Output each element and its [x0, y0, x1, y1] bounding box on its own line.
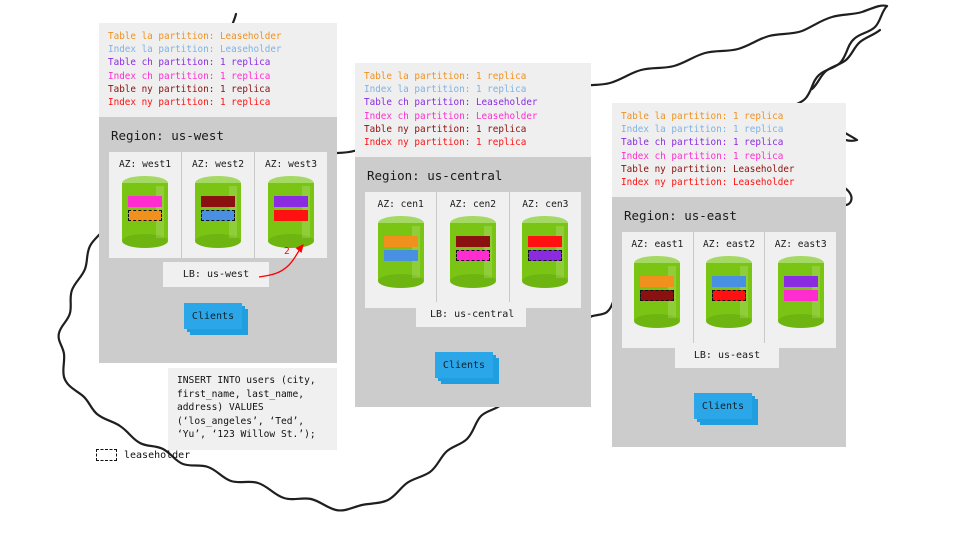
partition-line: Table la partition: Leaseholder — [108, 30, 328, 43]
az-cell-west3[interactable]: AZ: west3 — [255, 152, 327, 258]
replica-stripe-leaseholder — [128, 210, 162, 221]
az-label: AZ: east1 — [622, 239, 693, 250]
node-cylinder-west3[interactable] — [268, 176, 314, 248]
region-panel-us-central: Region: us-central AZ: cen1 AZ: cen2 — [355, 157, 591, 407]
replica-stripe — [384, 236, 418, 247]
node-cylinder-east3[interactable] — [778, 256, 824, 328]
region-cluster-us-east: Table la partition: 1 replica Index la p… — [612, 103, 846, 447]
clients-stack-us-central[interactable]: Clients — [435, 352, 497, 382]
partition-line: Index la partition: 1 replica — [364, 83, 582, 96]
region-title: Region: us-central — [355, 157, 591, 183]
replica-stripe — [274, 210, 308, 221]
replica-stripe — [640, 276, 674, 287]
az-label: AZ: cen1 — [365, 199, 436, 210]
node-cylinder-east1[interactable] — [634, 256, 680, 328]
replica-stripe — [201, 196, 235, 207]
replica-stripe-leaseholder — [712, 290, 746, 301]
az-cell-east3[interactable]: AZ: east3 — [765, 232, 836, 348]
az-cell-east1[interactable]: AZ: east1 — [622, 232, 694, 348]
replica-stripe — [712, 276, 746, 287]
az-label: AZ: cen3 — [510, 199, 581, 210]
replica-stripe-leaseholder — [640, 290, 674, 301]
legend-leaseholder: leaseholder — [96, 449, 190, 461]
az-label: AZ: west2 — [182, 159, 254, 170]
region-cluster-us-central: Table la partition: 1 replica Index la p… — [355, 63, 591, 407]
replica-stripe — [456, 236, 490, 247]
diagram-canvas: Table la partition: Leaseholder Index la… — [0, 0, 960, 540]
partition-summary-us-central: Table la partition: 1 replica Index la p… — [355, 63, 591, 157]
partition-line: Table ny partition: 1 replica — [108, 83, 328, 96]
az-row-us-west: AZ: west1 AZ: west2 — [109, 152, 327, 258]
partition-line: Index la partition: 1 replica — [621, 123, 837, 136]
arrow-step-number: 2 — [284, 246, 290, 257]
sql-insert-note: INSERT INTO users (city, first_name, las… — [168, 368, 337, 450]
az-row-us-east: AZ: east1 AZ: east2 — [622, 232, 836, 348]
replica-stripe — [384, 250, 418, 261]
replica-stripe — [528, 236, 562, 247]
load-balancer-us-central[interactable]: LB: us-central — [416, 302, 526, 327]
partition-line: Index ch partition: 1 replica — [108, 70, 328, 83]
dashed-box-icon — [96, 449, 117, 461]
replica-stripe-leaseholder — [456, 250, 490, 261]
replica-stripe — [784, 290, 818, 301]
az-label: AZ: east2 — [694, 239, 765, 250]
legend-label: leaseholder — [124, 450, 190, 461]
az-cell-west1[interactable]: AZ: west1 — [109, 152, 182, 258]
node-cylinder-cen3[interactable] — [522, 216, 568, 288]
partition-line: Index ny partition: 1 replica — [108, 96, 328, 109]
load-balancer-us-east[interactable]: LB: us-east — [675, 343, 779, 368]
partition-line: Table ny partition: 1 replica — [364, 123, 582, 136]
az-cell-cen1[interactable]: AZ: cen1 — [365, 192, 437, 308]
az-cell-cen2[interactable]: AZ: cen2 — [437, 192, 509, 308]
partition-line: Index ny partition: Leaseholder — [621, 176, 837, 189]
region-title: Region: us-west — [99, 117, 337, 143]
replica-stripe — [784, 276, 818, 287]
az-cell-west2[interactable]: AZ: west2 — [182, 152, 255, 258]
node-cylinder-west2[interactable] — [195, 176, 241, 248]
az-label: AZ: cen2 — [437, 199, 508, 210]
node-cylinder-cen2[interactable] — [450, 216, 496, 288]
node-cylinder-east2[interactable] — [706, 256, 752, 328]
az-label: AZ: west1 — [109, 159, 181, 170]
replica-stripe — [274, 196, 308, 207]
az-cell-east2[interactable]: AZ: east2 — [694, 232, 766, 348]
replica-stripe-leaseholder — [528, 250, 562, 261]
partition-summary-us-west: Table la partition: Leaseholder Index la… — [99, 23, 337, 117]
az-cell-cen3[interactable]: AZ: cen3 — [510, 192, 581, 308]
clients-stack-us-west[interactable]: Clients — [184, 303, 246, 333]
partition-line: Index ny partition: 1 replica — [364, 136, 582, 149]
node-cylinder-west1[interactable] — [122, 176, 168, 248]
lb-label: LB: us-west — [183, 269, 249, 280]
partition-summary-us-east: Table la partition: 1 replica Index la p… — [612, 103, 846, 197]
lb-label: LB: us-central — [430, 309, 514, 320]
partition-line: Table la partition: 1 replica — [621, 110, 837, 123]
partition-line: Table ch partition: 1 replica — [108, 56, 328, 69]
partition-line: Index la partition: Leaseholder — [108, 43, 328, 56]
partition-line: Table ch partition: Leaseholder — [364, 96, 582, 109]
az-row-us-central: AZ: cen1 AZ: cen2 — [365, 192, 581, 308]
replica-stripe — [128, 196, 162, 207]
az-label: AZ: west3 — [255, 159, 327, 170]
partition-line: Index ch partition: Leaseholder — [364, 110, 582, 123]
replica-stripe-leaseholder — [201, 210, 235, 221]
clients-label[interactable]: Clients — [184, 303, 242, 329]
lb-label: LB: us-east — [694, 350, 760, 361]
clients-label[interactable]: Clients — [435, 352, 493, 378]
partition-line: Table ch partition: 1 replica — [621, 136, 837, 149]
region-title: Region: us-east — [612, 197, 846, 223]
clients-label[interactable]: Clients — [694, 393, 752, 419]
load-balancer-us-west[interactable]: LB: us-west — [163, 262, 269, 287]
region-cluster-us-west: Table la partition: Leaseholder Index la… — [99, 23, 337, 363]
region-panel-us-east: Region: us-east AZ: east1 AZ: east2 — [612, 197, 846, 447]
region-panel-us-west: Region: us-west AZ: west1 AZ: west2 — [99, 117, 337, 363]
partition-line: Table la partition: 1 replica — [364, 70, 582, 83]
partition-line: Table ny partition: Leaseholder — [621, 163, 837, 176]
clients-stack-us-east[interactable]: Clients — [694, 393, 756, 423]
partition-line: Index ch partition: 1 replica — [621, 150, 837, 163]
az-label: AZ: east3 — [765, 239, 836, 250]
node-cylinder-cen1[interactable] — [378, 216, 424, 288]
